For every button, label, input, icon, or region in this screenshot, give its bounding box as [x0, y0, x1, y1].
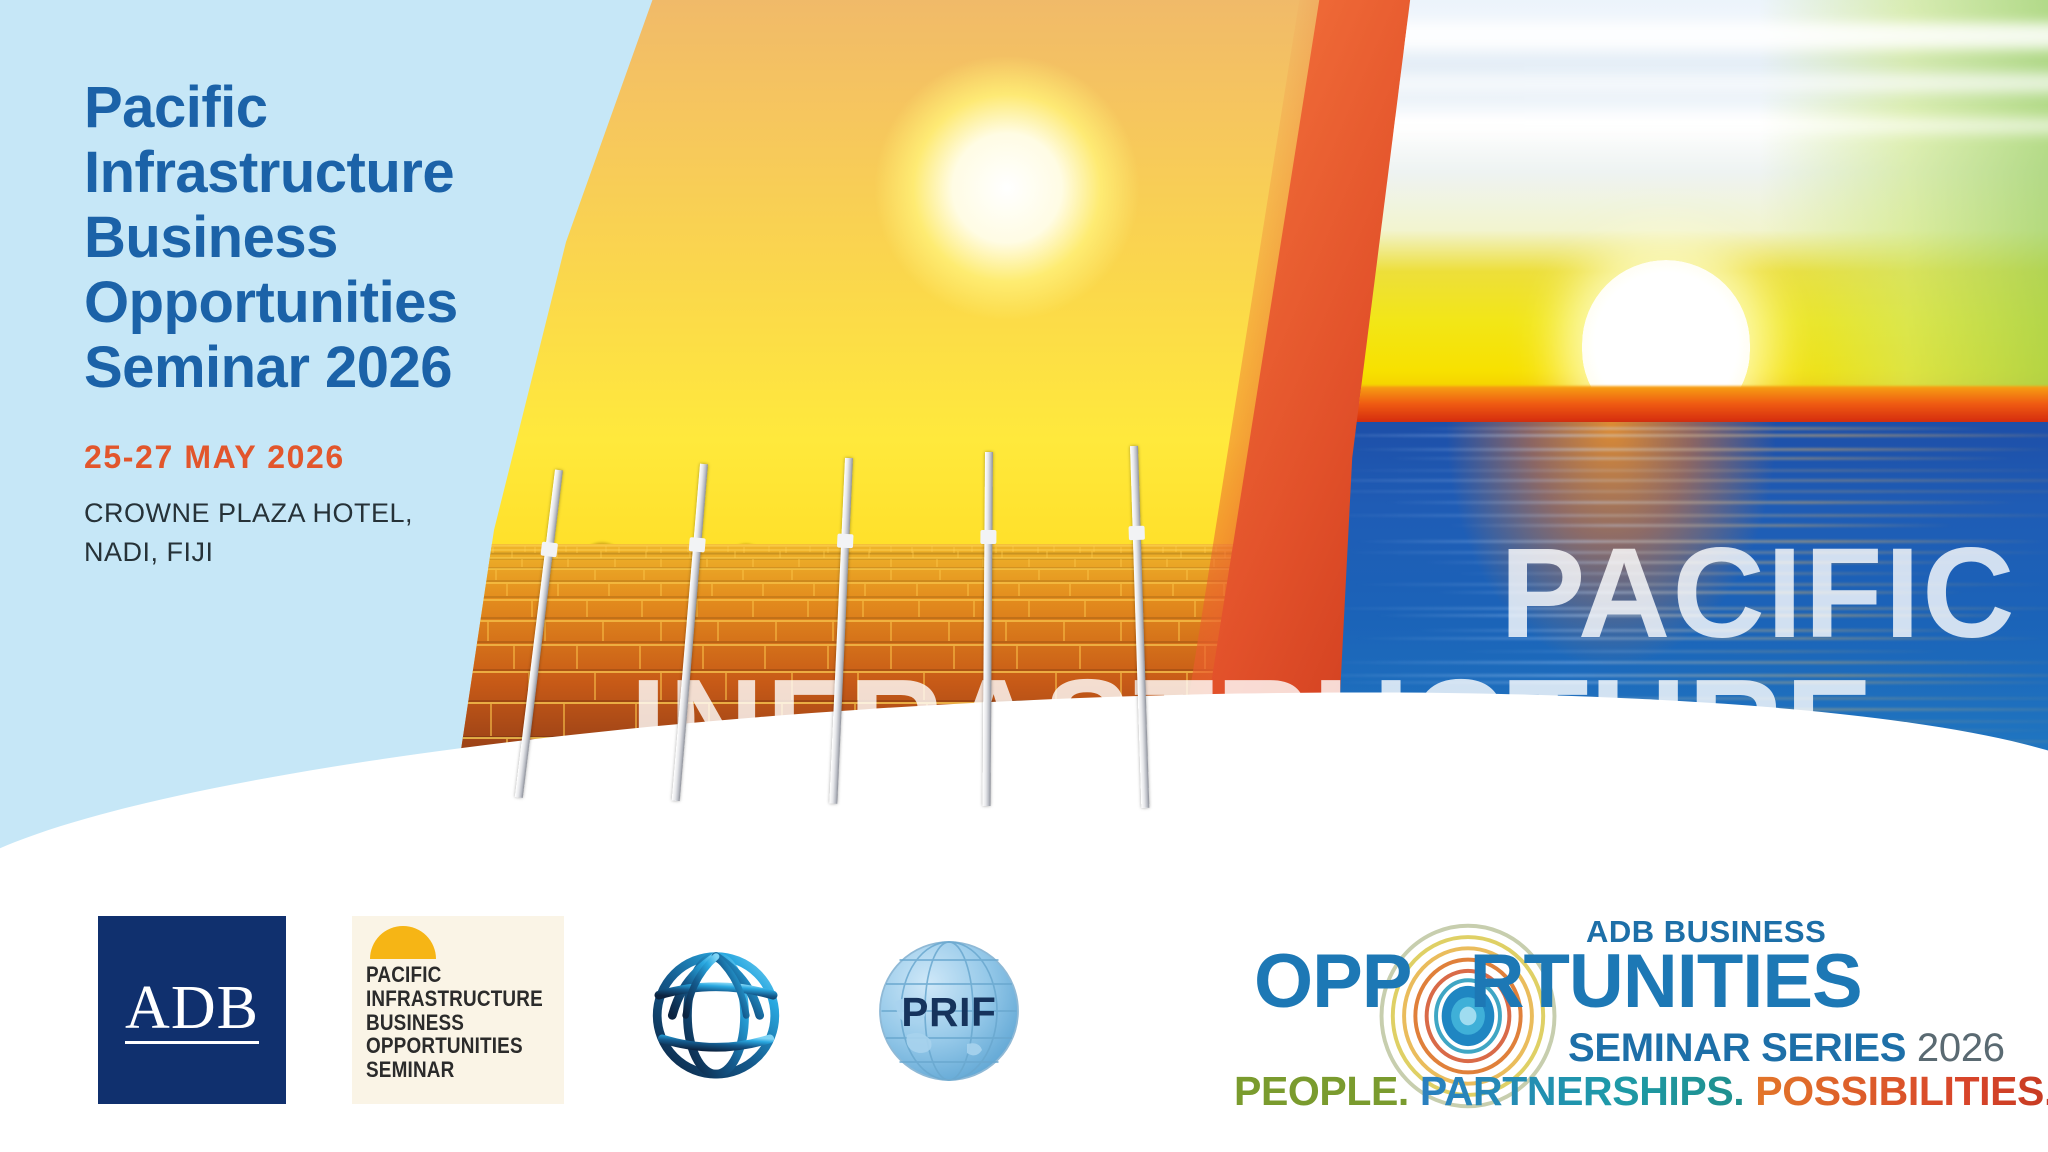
title-line: Infrastructure — [84, 141, 504, 206]
venue-line: NADI, FIJI — [84, 533, 504, 572]
panel-row — [440, 568, 1340, 580]
wave-line — [1330, 469, 2048, 472]
wave-line — [1330, 514, 2048, 517]
pibos-line: BUSINESS — [366, 1011, 526, 1035]
wave-line — [1435, 591, 1964, 594]
prif-logo-text: PRIF — [901, 989, 996, 1035]
wave-line — [1423, 561, 1977, 564]
sunrise-icon — [370, 926, 436, 959]
wave-line — [1415, 629, 1985, 632]
pibos-line: PACIFIC — [366, 963, 526, 987]
event-text-block: Pacific Infrastructure Business Opportun… — [84, 76, 504, 572]
pibos-logo-text: PACIFIC INFRASTRUCTURE BUSINESS OPPORTUN… — [366, 963, 526, 1082]
wave-line — [1387, 457, 2014, 460]
wave-line — [1350, 583, 2048, 586]
bos-wordmark-o: O — [1412, 939, 1470, 1024]
wave-line — [1374, 614, 2025, 617]
tagline-partnerships: PARTNERSHIPS. — [1420, 1068, 1744, 1114]
pibos-line: OPPORTUNITIES — [366, 1034, 526, 1058]
title-line: Business — [84, 206, 504, 271]
venue-line: CROWNE PLAZA HOTEL, — [84, 494, 504, 533]
globe-icon — [632, 928, 800, 1096]
title-line: Opportunities — [84, 271, 504, 336]
bos-wordmark-pre: OPP — [1254, 939, 1412, 1024]
tagline-people: PEOPLE. — [1234, 1068, 1409, 1114]
bos-subline-text: SEMINAR SERIES — [1568, 1026, 1906, 1070]
pibos-line: SEMINAR — [366, 1058, 526, 1082]
adb-logo: ADB — [98, 916, 286, 1104]
adb-business-opportunities-seminar-series-logo: ADB BUSINESS OPPORTUNITIES SEMINAR SERIE… — [1258, 910, 1978, 1120]
wave-line — [1330, 681, 2048, 684]
bos-year: 2026 — [1917, 1026, 2005, 1070]
tagline-possibilities: POSSIBILITIES. — [1755, 1068, 2048, 1114]
wave-line — [1330, 661, 2048, 664]
wave-line — [1330, 490, 2048, 493]
wave-line — [1346, 448, 2048, 451]
wave-line — [1342, 551, 2048, 554]
page-title: Pacific Infrastructure Business Opportun… — [84, 76, 504, 401]
bos-subline: SEMINAR SERIES 2026 — [1568, 1026, 2005, 1071]
bos-wordmark: OPPORTUNITIES — [1254, 944, 1862, 1020]
wave-line — [1354, 637, 2046, 640]
world-bank-logo — [632, 928, 800, 1096]
wave-line — [1330, 479, 2048, 482]
event-banner: PACIFIC INFRASTRUCTURE Pacific Infrastru… — [0, 0, 2048, 1152]
wave-line — [1330, 674, 2048, 677]
bos-wordmark-post: RTUNITIES — [1470, 939, 1862, 1024]
logo-strip: ADB PACIFIC INFRASTRUCTURE BUSINESS OPPO… — [0, 900, 2048, 1152]
wave-line — [1330, 607, 2048, 610]
prif-logo: PRIF — [874, 936, 1024, 1086]
title-line: Pacific — [84, 76, 504, 141]
event-venue: CROWNE PLAZA HOTEL, NADI, FIJI — [84, 494, 504, 572]
wave-line — [1456, 650, 1944, 653]
wave-line — [1330, 434, 2048, 437]
event-date: 25-27 MAY 2026 — [84, 439, 504, 476]
wave-line — [1383, 501, 2018, 504]
pibos-logo: PACIFIC INFRASTRUCTURE BUSINESS OPPORTUN… — [352, 916, 564, 1104]
wave-line — [1354, 540, 2046, 543]
panel-row — [440, 557, 1340, 567]
wave-line — [1411, 427, 1989, 430]
bos-tagline: PEOPLE. PARTNERSHIPS. POSSIBILITIES. — [1234, 1068, 2048, 1115]
prif-globe-icon: PRIF — [874, 936, 1024, 1086]
adb-logo-text: ADB — [125, 977, 259, 1044]
wave-line — [1448, 524, 1953, 527]
pibos-line: INFRASTRUCTURE — [366, 987, 526, 1011]
wave-line — [1456, 572, 1944, 575]
title-line: Seminar 2026 — [84, 336, 504, 401]
